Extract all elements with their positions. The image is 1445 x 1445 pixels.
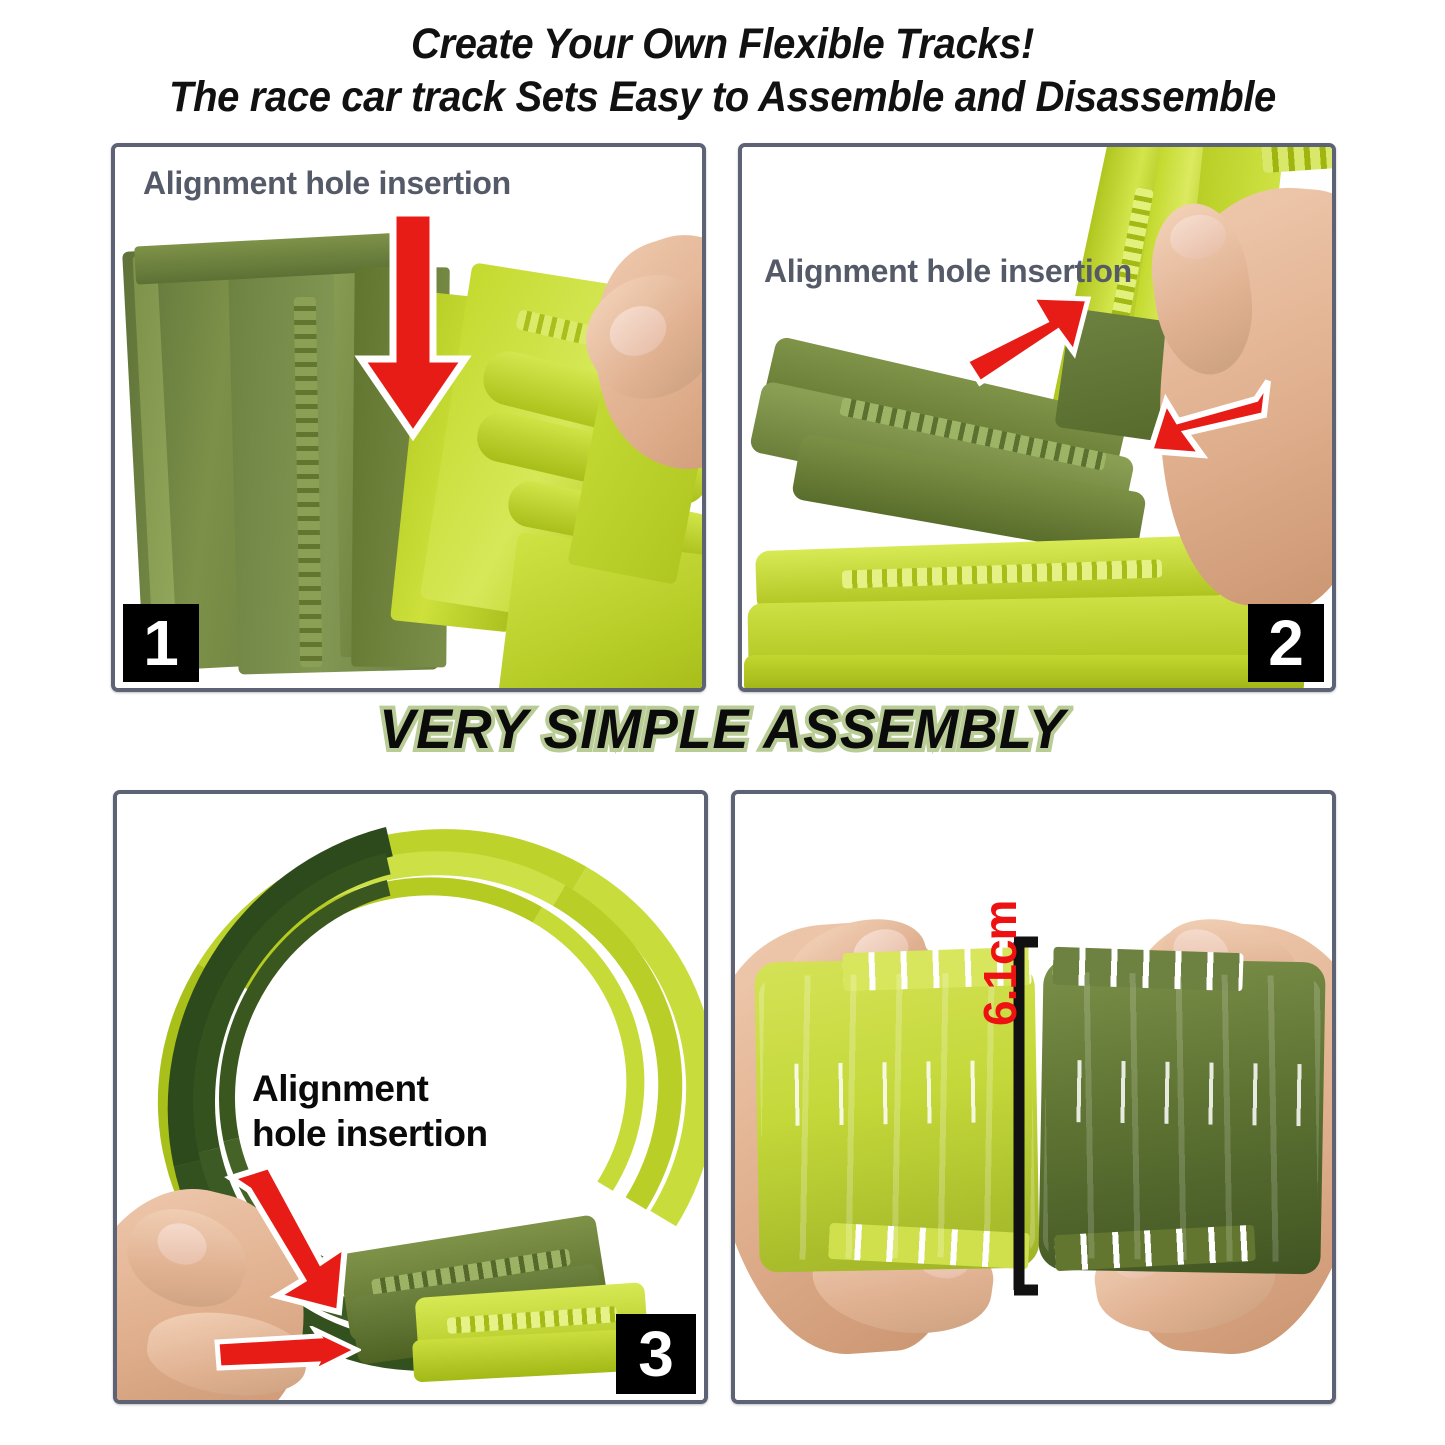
red-right-arrow — [213, 1326, 361, 1380]
headline-line-2: The race car track Sets Easy to Assemble… — [51, 71, 1395, 124]
step-panel-1: Alignment hole insertion 1 — [111, 143, 706, 692]
page-title: Create Your Own Flexible Tracks! The rac… — [51, 18, 1395, 124]
dimension-label: 6.1cm — [973, 901, 1027, 1026]
red-down-right-arrow — [223, 1162, 373, 1322]
alignment-hole-insertion-label: Alignment hole insertion — [252, 1066, 488, 1156]
red-down-arrow — [353, 209, 473, 444]
headline-line-1: Create Your Own Flexible Tracks! — [51, 18, 1395, 71]
alignment-hole-insertion-label: Alignment hole insertion — [764, 253, 1132, 290]
infographic-root: Create Your Own Flexible Tracks! The rac… — [0, 0, 1445, 1445]
track-piece-bright-bottom-3 — [744, 655, 1304, 688]
size-comparison-photo: 6.1cm — [735, 794, 1332, 1400]
red-down-left-arrow — [1142, 375, 1272, 467]
step-2-photo: Alignment hole insertion — [742, 147, 1332, 688]
track-stack-dark-ridges — [1043, 972, 1322, 1263]
track-teeth-bright-top — [1261, 147, 1332, 173]
assembly-banner: VERY SIMPLE ASSEMBLY — [0, 698, 1445, 760]
step-number-badge-2: 2 — [1248, 604, 1324, 682]
red-up-right-arrow — [962, 287, 1094, 395]
step-number-badge-1: 1 — [123, 604, 199, 682]
alignment-hole-insertion-label: Alignment hole insertion — [143, 165, 511, 202]
step-panel-3: Alignment hole insertion 3 — [113, 790, 708, 1404]
step-panel-2: Alignment hole insertion 2 — [738, 143, 1336, 692]
step-1-photo: Alignment hole insertion — [115, 147, 702, 688]
step-3-photo: Alignment hole insertion — [117, 794, 704, 1400]
step-number-badge-3: 3 — [616, 1314, 696, 1394]
comparison-panel: 6.1cm — [731, 790, 1336, 1404]
assembly-banner-text: VERY SIMPLE ASSEMBLY — [379, 698, 1065, 760]
